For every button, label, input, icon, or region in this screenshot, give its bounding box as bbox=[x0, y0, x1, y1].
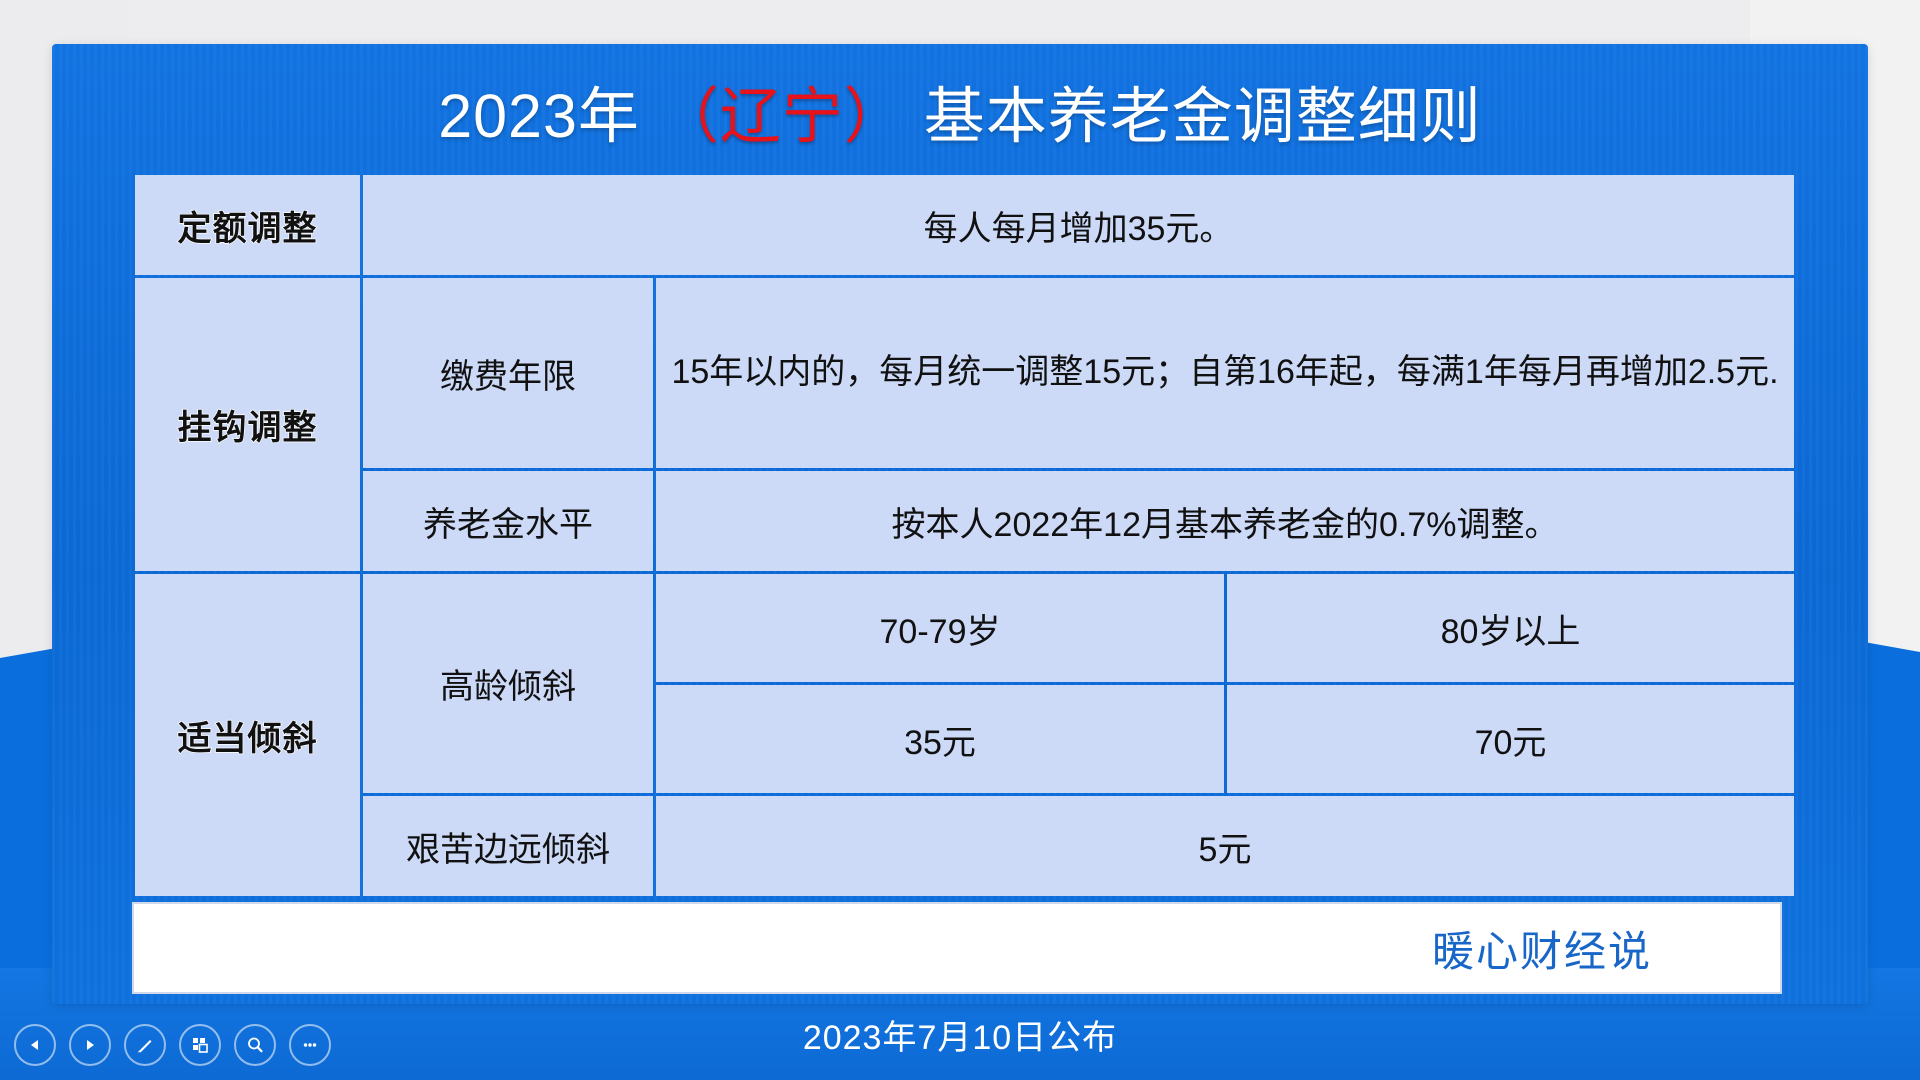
triangle-right-icon bbox=[82, 1037, 98, 1053]
slide-toolbar bbox=[14, 1024, 331, 1066]
table-row: 挂钩调整 缴费年限 15年以内的，每月统一调整15元；自第16年起，每满1年每月… bbox=[135, 278, 1794, 468]
age-header-70-79: 70-79岁 bbox=[656, 574, 1224, 682]
pen-icon bbox=[135, 1035, 155, 1055]
ellipsis-icon bbox=[300, 1035, 320, 1055]
pen-tool-button[interactable] bbox=[124, 1024, 166, 1066]
subcategory-remote-hardship-tilt: 艰苦边远倾斜 bbox=[363, 796, 653, 896]
slide-overview-button[interactable] bbox=[179, 1024, 221, 1066]
contribution-years-value: 15年以内的，每月统一调整15元；自第16年起，每满1年每月再增加2.5元. bbox=[656, 278, 1794, 468]
next-slide-button[interactable] bbox=[69, 1024, 111, 1066]
magnifier-icon bbox=[245, 1035, 265, 1055]
table-row: 养老金水平 按本人2022年12月基本养老金的0.7%调整。 bbox=[135, 471, 1794, 571]
table-footer-row: 暖心财经说 bbox=[132, 902, 1782, 994]
previous-slide-button[interactable] bbox=[14, 1024, 56, 1066]
subcategory-contribution-years: 缴费年限 bbox=[363, 278, 653, 468]
remote-hardship-value: 5元 bbox=[656, 796, 1794, 896]
triangle-left-icon bbox=[27, 1037, 43, 1053]
fixed-adjustment-value: 每人每月增加35元。 bbox=[363, 175, 1794, 275]
slide-panel: 2023年 （辽宁） 基本养老金调整细则 定额调整 每人每月增加35元。 挂钩调… bbox=[52, 44, 1868, 1004]
category-appropriate-tilt: 适当倾斜 bbox=[135, 574, 360, 896]
title-province: （辽宁） bbox=[658, 82, 906, 150]
subcategory-pension-level: 养老金水平 bbox=[363, 471, 653, 571]
adjustment-table-wrapper: 定额调整 每人每月增加35元。 挂钩调整 缴费年限 15年以内的，每月统一调整1… bbox=[132, 172, 1782, 994]
title-suffix: 基本养老金调整细则 bbox=[906, 82, 1482, 150]
page-title: 2023年 （辽宁） 基本养老金调整细则 bbox=[52, 44, 1868, 147]
amount-80-plus: 70元 bbox=[1227, 685, 1794, 793]
pension-adjustment-table: 定额调整 每人每月增加35元。 挂钩调整 缴费年限 15年以内的，每月统一调整1… bbox=[132, 172, 1797, 899]
amount-70-79: 35元 bbox=[656, 685, 1224, 793]
table-row: 适当倾斜 高龄倾斜 70-79岁 80岁以上 bbox=[135, 574, 1794, 682]
category-linked-adjustment: 挂钩调整 bbox=[135, 278, 360, 571]
title-prefix: 2023年 bbox=[438, 82, 658, 150]
subcategory-elderly-tilt: 高龄倾斜 bbox=[363, 574, 653, 793]
pension-level-value: 按本人2022年12月基本养老金的0.7%调整。 bbox=[656, 471, 1794, 571]
brand-watermark: 暖心财经说 bbox=[1432, 918, 1652, 979]
more-options-button[interactable] bbox=[289, 1024, 331, 1066]
table-row: 定额调整 每人每月增加35元。 bbox=[135, 175, 1794, 275]
age-header-80-plus: 80岁以上 bbox=[1227, 574, 1794, 682]
grid-icon bbox=[190, 1035, 210, 1055]
zoom-search-button[interactable] bbox=[234, 1024, 276, 1066]
table-row: 艰苦边远倾斜 5元 bbox=[135, 796, 1794, 896]
category-fixed-adjustment: 定额调整 bbox=[135, 175, 360, 275]
